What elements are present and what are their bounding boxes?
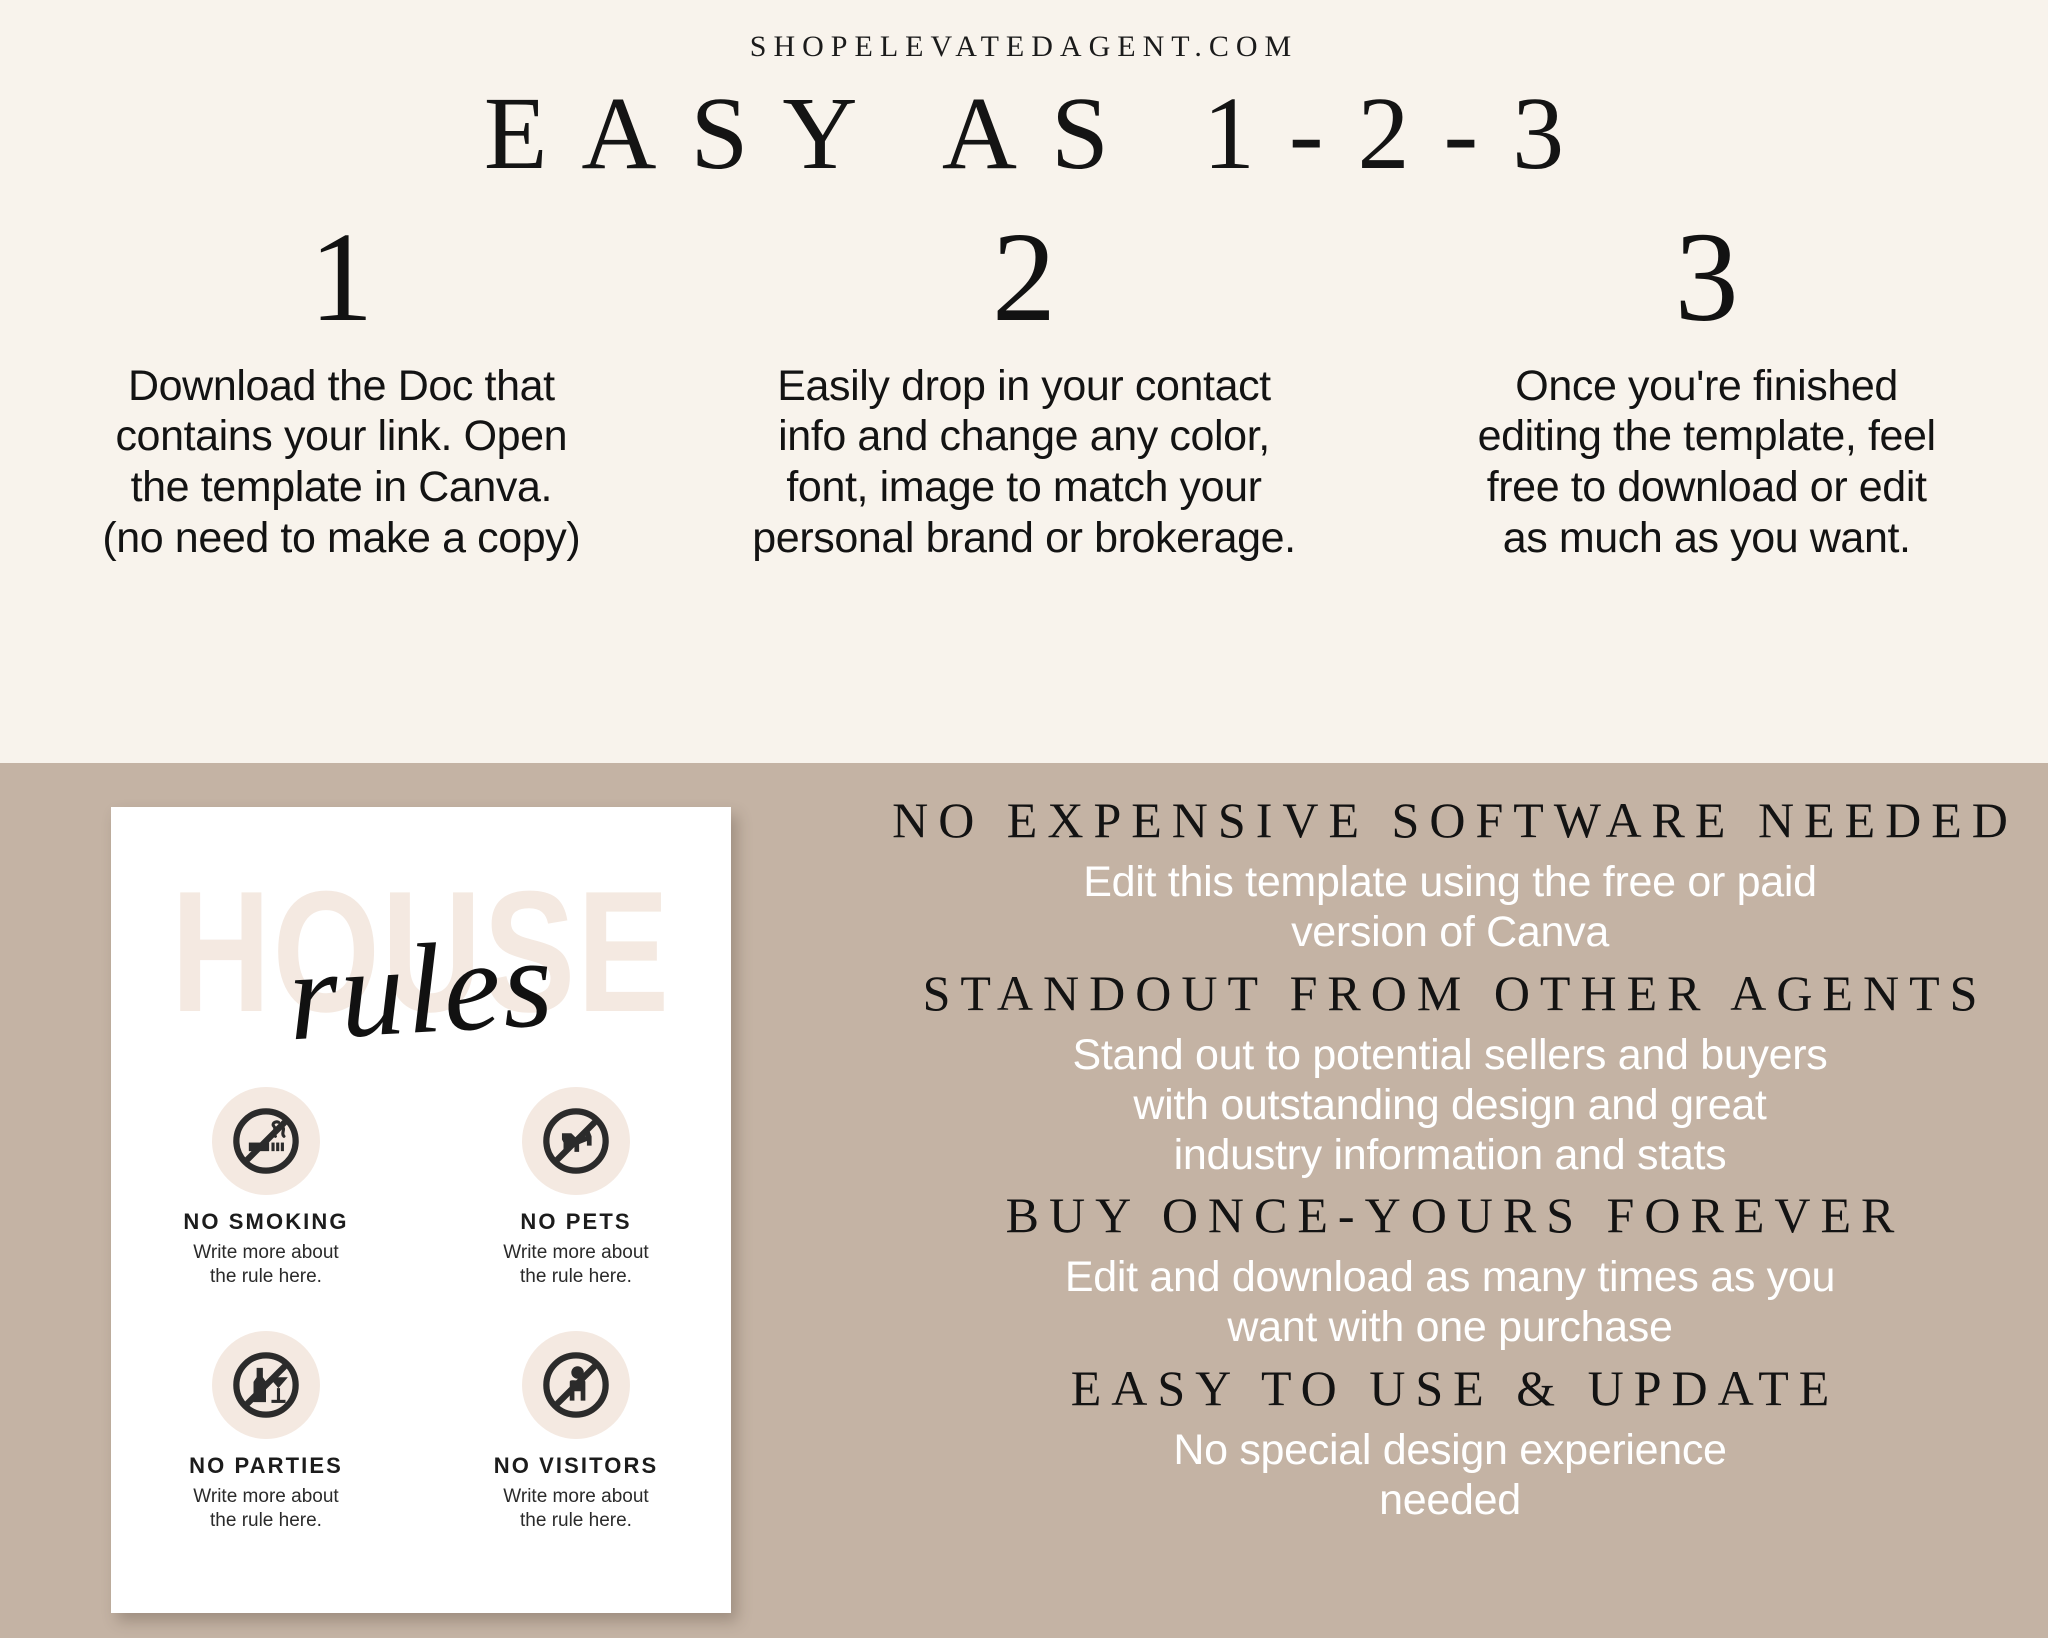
- feature-heading: EASY TO USE & UPDATE: [880, 1353, 2020, 1424]
- feature-item: NO EXPENSIVE SOFTWARE NEEDED Edit this t…: [880, 785, 2020, 958]
- poster-title: HOUSE rules: [111, 865, 731, 1095]
- rule-desc: Write more about the rule here.: [193, 1241, 338, 1289]
- feature-heading: NO EXPENSIVE SOFTWARE NEEDED: [880, 785, 2020, 856]
- rule-item: NO VISITORS Write more about the rule he…: [421, 1331, 731, 1533]
- step-text: Download the Doc that contains your link…: [102, 361, 580, 564]
- rule-desc: Write more about the rule here.: [193, 1485, 338, 1533]
- feature-body: Edit this template using the free or pai…: [880, 858, 2020, 958]
- step-text: Easily drop in your contact info and cha…: [752, 361, 1295, 564]
- features-list: NO EXPENSIVE SOFTWARE NEEDED Edit this t…: [880, 785, 2020, 1526]
- no-pets-icon: [522, 1087, 630, 1195]
- step-number: 2: [992, 212, 1056, 343]
- feature-heading: STANDOUT FROM OTHER AGENTS: [880, 958, 2020, 1029]
- rule-item: NO PETS Write more about the rule here.: [421, 1087, 731, 1289]
- no-smoking-icon: [212, 1087, 320, 1195]
- top-section: SHOPELEVATEDAGENT.COM EASY AS 1-2-3 1 Do…: [0, 0, 2048, 763]
- rule-title: NO PARTIES: [189, 1453, 343, 1479]
- site-url: SHOPELEVATEDAGENT.COM: [0, 30, 2048, 64]
- rule-title: NO SMOKING: [183, 1209, 348, 1235]
- feature-body: No special design experience needed: [880, 1426, 2020, 1526]
- step-text: Once you're finished editing the templat…: [1478, 361, 1936, 564]
- page-title: EASY AS 1-2-3: [0, 82, 2048, 186]
- step-item: 2 Easily drop in your contact info and c…: [683, 212, 1366, 563]
- feature-item: STANDOUT FROM OTHER AGENTS Stand out to …: [880, 958, 2020, 1181]
- steps-row: 1 Download the Doc that contains your li…: [0, 212, 2048, 563]
- rules-grid: NO SMOKING Write more about the rule her…: [111, 1087, 731, 1533]
- step-item: 3 Once you're finished editing the templ…: [1365, 212, 2048, 563]
- feature-item: EASY TO USE & UPDATE No special design e…: [880, 1353, 2020, 1526]
- rule-desc: Write more about the rule here.: [503, 1241, 648, 1289]
- feature-item: BUY ONCE-YOURS FOREVER Edit and download…: [880, 1180, 2020, 1353]
- rule-title: NO VISITORS: [494, 1453, 659, 1479]
- house-rules-poster: HOUSE rules: [111, 807, 731, 1613]
- step-number: 3: [1675, 212, 1739, 343]
- feature-body: Stand out to potential sellers and buyer…: [880, 1031, 2020, 1181]
- rule-item: NO PARTIES Write more about the rule her…: [111, 1331, 421, 1533]
- rule-title: NO PETS: [520, 1209, 631, 1235]
- no-parties-icon: [212, 1331, 320, 1439]
- feature-body: Edit and download as many times as you w…: [880, 1253, 2020, 1353]
- step-number: 1: [309, 212, 373, 343]
- feature-heading: BUY ONCE-YOURS FOREVER: [880, 1180, 2020, 1251]
- bottom-section: HOUSE rules: [0, 763, 2048, 1638]
- no-visitors-icon: [522, 1331, 630, 1439]
- rule-item: NO SMOKING Write more about the rule her…: [111, 1087, 421, 1289]
- step-item: 1 Download the Doc that contains your li…: [0, 212, 683, 563]
- promo-graphic: SHOPELEVATEDAGENT.COM EASY AS 1-2-3 1 Do…: [0, 0, 2048, 1638]
- rule-desc: Write more about the rule here.: [503, 1485, 648, 1533]
